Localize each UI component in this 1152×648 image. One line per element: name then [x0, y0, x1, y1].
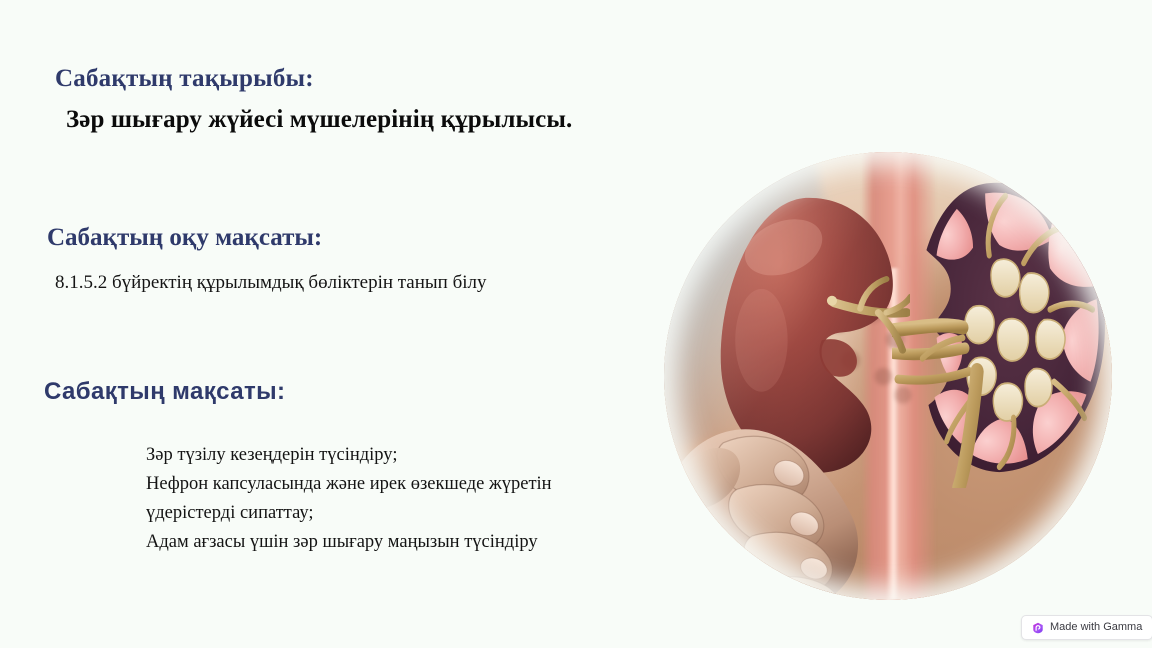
lesson-topic-heading: Сабақтың тақырыбы: [55, 65, 314, 93]
lesson-title: Зәр шығару жүйесі мүшелерінің құрылысы. [66, 106, 572, 134]
list-item: Адам ағзасы үшін зәр шығару маңызын түсі… [146, 528, 691, 557]
hand-icon [673, 376, 924, 600]
kidney-anatomy-image [664, 152, 1112, 600]
learning-objective-text: 8.1.5.2 бүйректің құрылымдық бөліктерін … [55, 272, 487, 294]
lesson-goal-heading: Сабақтың мақсаты: [44, 378, 285, 406]
kidney-cross-section-icon [892, 165, 1112, 488]
list-item: Нефрон капсуласында және ирек өзекшеде ж… [146, 470, 691, 499]
text-column: Сабақтың тақырыбы: Зәр шығару жүйесі мүш… [0, 0, 700, 648]
lesson-goal-list: Зәр түзілу кезеңдерін түсіндіру; Нефрон … [146, 441, 691, 557]
slide-canvas: Сабақтың тақырыбы: Зәр шығару жүйесі мүш… [0, 0, 1152, 648]
gamma-logo-icon [1032, 622, 1044, 634]
learning-objective-heading: Сабақтың оқу мақсаты: [47, 224, 322, 252]
made-with-gamma-label: Made with Gamma [1050, 622, 1142, 633]
made-with-gamma-badge[interactable]: Made with Gamma [1021, 615, 1152, 640]
list-item: үдерістерді сипаттау; [146, 499, 691, 528]
list-item: Зәр түзілу кезеңдерін түсіндіру; [146, 441, 691, 470]
